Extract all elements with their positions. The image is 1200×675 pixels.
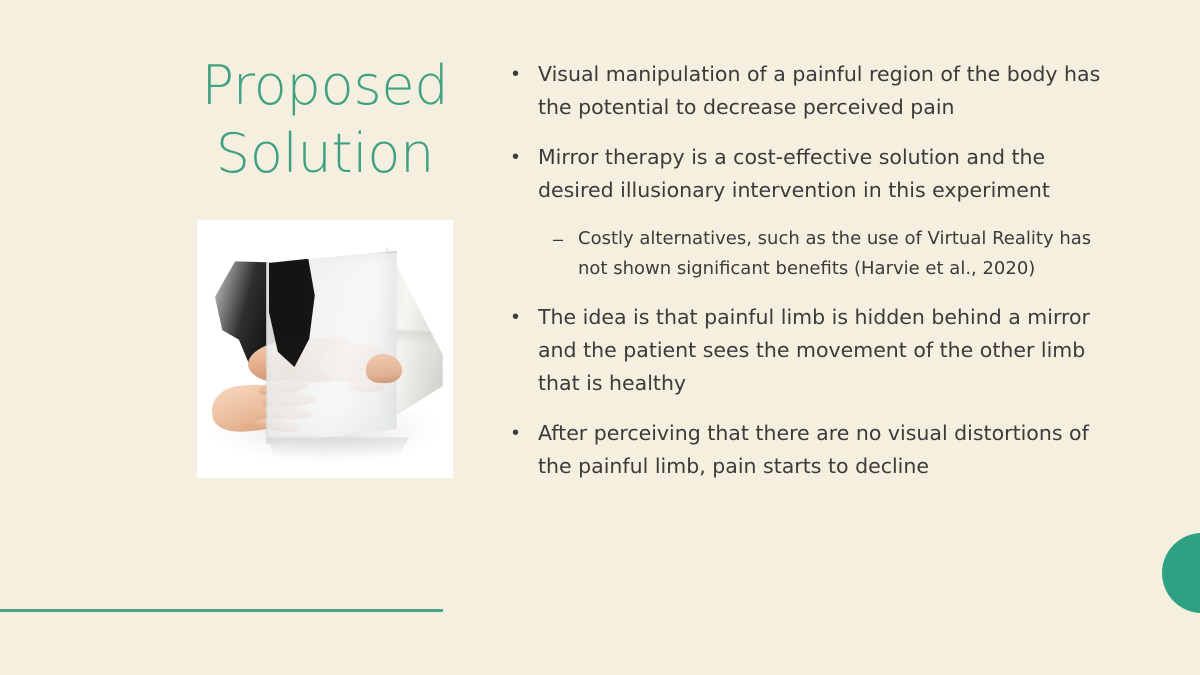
- accent-rule-divider: [0, 609, 443, 612]
- page-title-line-1: Proposed: [160, 52, 490, 120]
- bullet-marker-icon: •: [512, 301, 538, 334]
- sub-list-item: – Costly alternatives, such as the use o…: [553, 224, 1112, 284]
- page-title: Proposed Solution: [160, 52, 490, 188]
- list-item-text: After perceiving that there are no visua…: [538, 417, 1112, 483]
- sub-list-item-text: Costly alternatives, such as the use of …: [578, 224, 1112, 284]
- dash-marker-icon: –: [553, 224, 578, 254]
- list-item: • After perceiving that there are no vis…: [512, 417, 1112, 483]
- list-item-text: Visual manipulation of a painful region …: [538, 58, 1112, 124]
- bullet-marker-icon: •: [512, 417, 538, 450]
- bullet-marker-icon: •: [512, 141, 538, 174]
- photo-stage: [197, 220, 453, 478]
- list-item: • The idea is that painful limb is hidde…: [512, 301, 1112, 400]
- mirror-base-reflection: [266, 437, 409, 458]
- body-content-list: • Visual manipulation of a painful regio…: [512, 58, 1112, 483]
- slide-canvas: Proposed Solution: [0, 0, 1200, 675]
- list-item-text: Mirror therapy is a cost-effective solut…: [538, 141, 1112, 207]
- list-item-text: The idea is that painful limb is hidden …: [538, 301, 1112, 400]
- accent-circle-decoration: [1162, 533, 1200, 613]
- list-item: • Visual manipulation of a painful regio…: [512, 58, 1112, 124]
- bullet-marker-icon: •: [512, 58, 538, 91]
- page-title-line-2: Solution: [160, 120, 490, 188]
- list-item: • Mirror therapy is a cost-effective sol…: [512, 141, 1112, 207]
- mirror-therapy-image: [197, 220, 453, 478]
- mirror-edge-highlight: [264, 251, 397, 445]
